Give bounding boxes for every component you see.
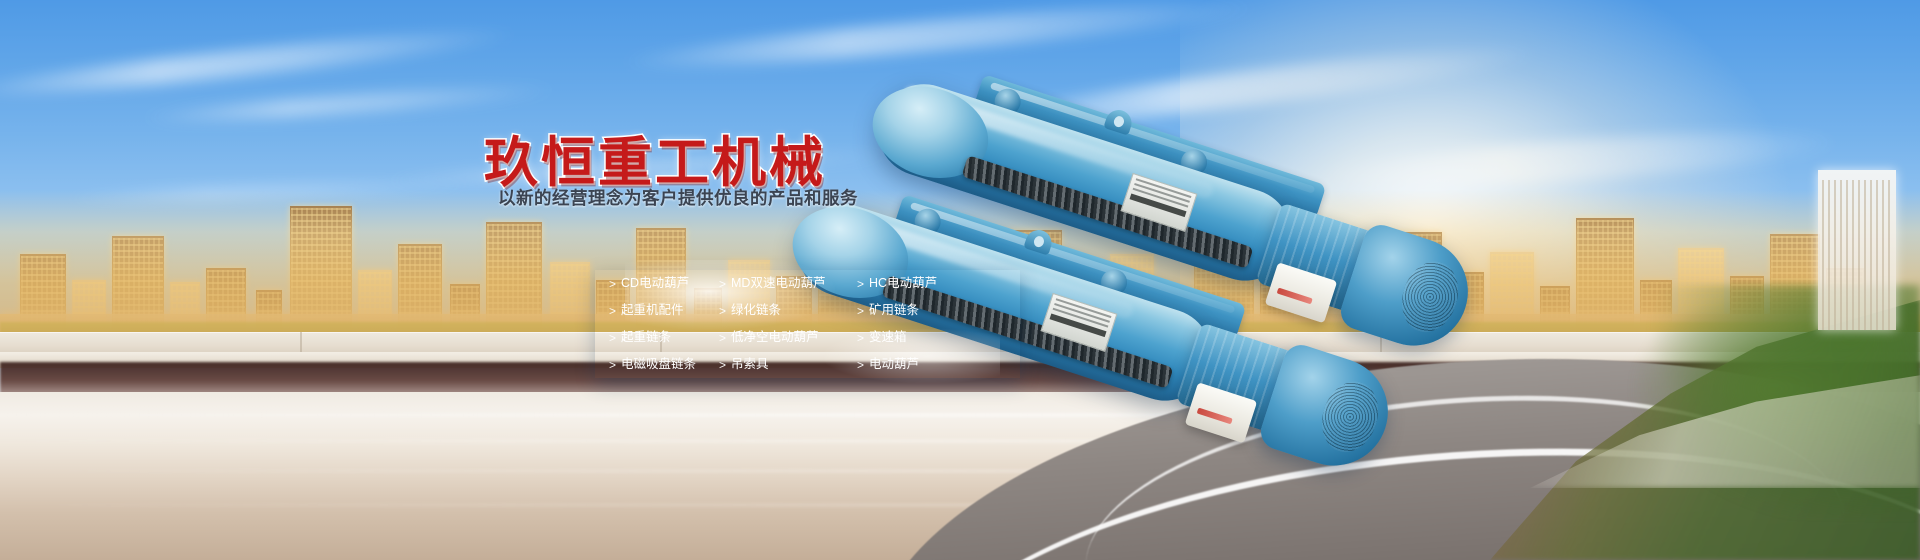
- product-link-label: 低净空电动葫芦: [731, 331, 819, 344]
- chevron-right-icon: >: [719, 305, 726, 317]
- product-link-label: 绿化链条: [731, 304, 781, 317]
- product-link-label: HC电动葫芦: [869, 277, 937, 290]
- product-link-magnetic-chuck-chain[interactable]: > 电磁吸盘链条: [609, 351, 719, 378]
- chevron-right-icon: >: [719, 278, 726, 290]
- chevron-right-icon: >: [857, 332, 864, 344]
- product-link-mining-chain[interactable]: > 矿用链条: [857, 297, 1020, 324]
- product-category-list: > CD电动葫芦 > MD双速电动葫芦 > HC电动葫芦 > 起重机配件 > 绿…: [595, 270, 1020, 378]
- chevron-right-icon: >: [609, 278, 616, 290]
- chevron-right-icon: >: [609, 359, 616, 371]
- chevron-right-icon: >: [609, 332, 616, 344]
- product-link-cd-hoist[interactable]: > CD电动葫芦: [609, 270, 719, 297]
- product-link-label: 变速箱: [869, 331, 907, 344]
- tall-building: [1818, 170, 1896, 330]
- product-link-hc-hoist[interactable]: > HC电动葫芦: [857, 270, 1020, 297]
- chevron-right-icon: >: [857, 359, 864, 371]
- chevron-right-icon: >: [857, 278, 864, 290]
- chevron-right-icon: >: [719, 359, 726, 371]
- product-link-low-headroom-hoist[interactable]: > 低净空电动葫芦: [719, 324, 857, 351]
- product-link-crane-parts[interactable]: > 起重机配件: [609, 297, 719, 324]
- banner-subheadline: 以新的经营理念为客户提供优良的产品和服务: [498, 185, 858, 210]
- chevron-right-icon: >: [609, 305, 616, 317]
- hero-banner: > CD电动葫芦 > MD双速电动葫芦 > HC电动葫芦 > 起重机配件 > 绿…: [0, 0, 1920, 560]
- product-category-panel: > CD电动葫芦 > MD双速电动葫芦 > HC电动葫芦 > 起重机配件 > 绿…: [595, 270, 1020, 378]
- product-link-electric-hoist[interactable]: > 电动葫芦: [857, 351, 1020, 378]
- product-link-label: 起重链条: [621, 331, 671, 344]
- product-link-lifting-chain[interactable]: > 起重链条: [609, 324, 719, 351]
- product-link-label: 起重机配件: [621, 304, 684, 317]
- product-link-slings[interactable]: > 吊索具: [719, 351, 857, 378]
- product-link-label: 电动葫芦: [869, 358, 919, 371]
- product-link-label: CD电动葫芦: [621, 277, 689, 290]
- product-link-label: 吊索具: [731, 358, 769, 371]
- product-link-md-dual-speed-hoist[interactable]: > MD双速电动葫芦: [719, 270, 857, 297]
- chevron-right-icon: >: [857, 305, 864, 317]
- product-link-label: 电磁吸盘链条: [621, 358, 696, 371]
- product-link-gearbox[interactable]: > 变速箱: [857, 324, 1020, 351]
- product-link-greening-chain[interactable]: > 绿化链条: [719, 297, 857, 324]
- chevron-right-icon: >: [719, 332, 726, 344]
- product-link-label: 矿用链条: [869, 304, 919, 317]
- product-link-label: MD双速电动葫芦: [731, 277, 825, 290]
